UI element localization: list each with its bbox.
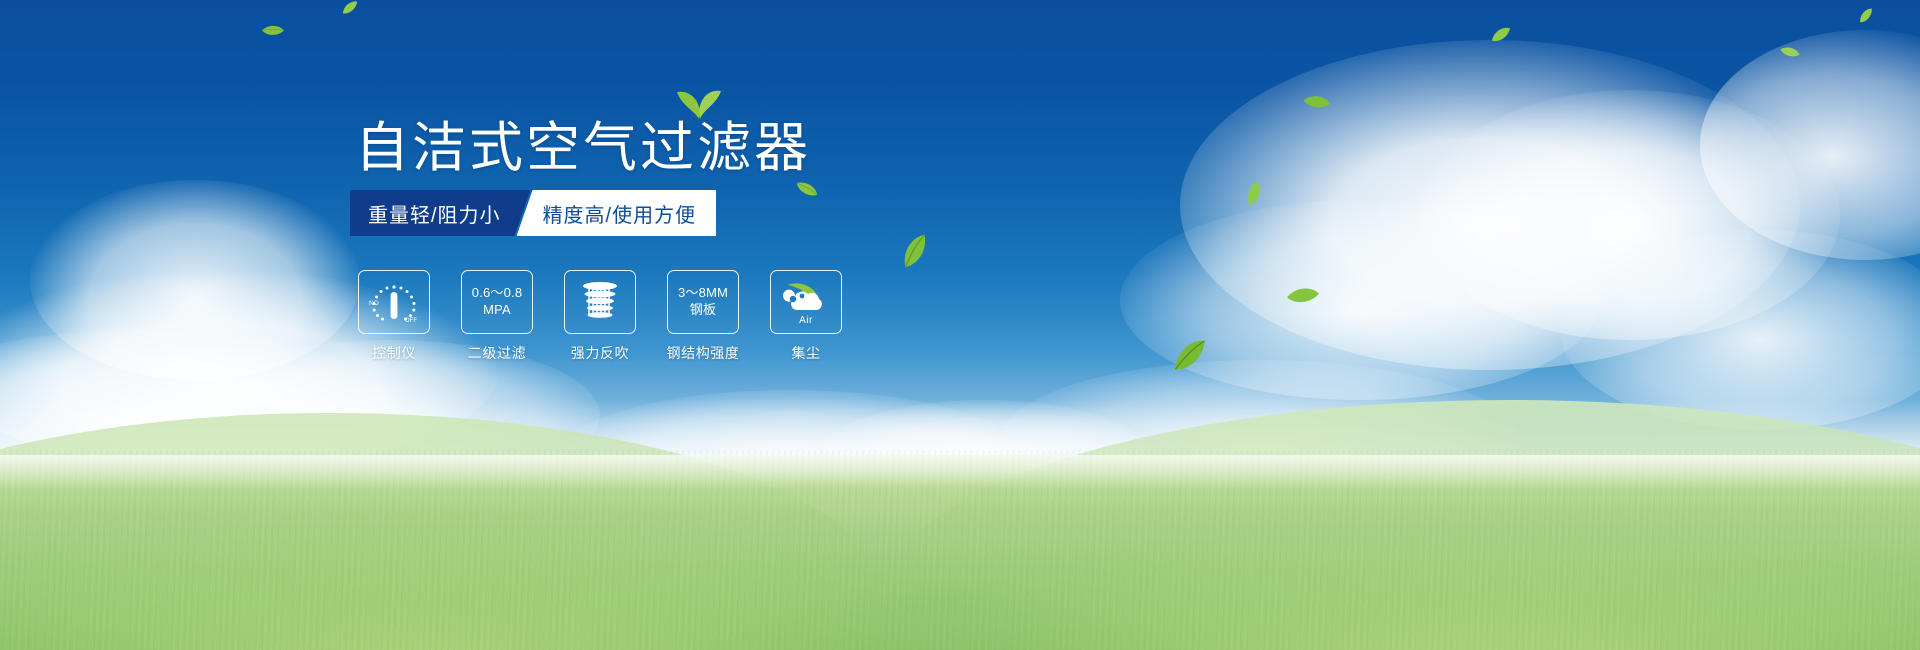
hero-content: 自洁式空气过滤器 重量轻/阻力小 精度高/使用方便 [0,0,1920,650]
feature-label: 强力反吹 [571,343,629,363]
feature-label: 二级过滤 [468,343,526,363]
feature-icon-box: Air [770,270,842,334]
steel-thickness-text: 3～8MM [678,285,728,302]
feature-item-control[interactable]: NO OFF 控制仪 [358,270,430,363]
air-label: Air [771,315,841,326]
feature-icon-box: 0.6～0.8 MPA [461,270,533,334]
feature-icon-box: 3～8MM 钢板 [667,270,739,334]
pressure-range-text: 0.6～0.8 [472,285,523,302]
feature-icon-box: NO OFF [358,270,430,334]
feature-item-steel[interactable]: 3～8MM 钢板 钢结构强度 [667,270,739,363]
svg-text:OFF: OFF [405,318,417,324]
feature-list: NO OFF 控制仪 0.6～0.8 MPA 二级过滤 [358,270,842,363]
filter-stack-icon [576,278,624,326]
pressure-unit-text: MPA [483,302,511,319]
feature-label: 钢结构强度 [667,343,740,363]
hero-banner: 自洁式空气过滤器 重量轻/阻力小 精度高/使用方便 [0,0,1920,650]
gauge-icon: NO OFF [366,278,422,326]
feature-icon-box [564,270,636,334]
tagline-pill-2: 精度高/使用方便 [517,190,717,236]
page-title: 自洁式空气过滤器 [355,118,811,178]
steel-plate-text: 钢板 [690,302,716,319]
feature-item-pressure[interactable]: 0.6～0.8 MPA 二级过滤 [461,270,533,363]
tagline-pill-1: 重量轻/阻力小 [350,190,531,236]
dust-cloud-icon [780,279,832,319]
tagline-pills: 重量轻/阻力小 精度高/使用方便 [350,190,716,236]
feature-label: 控制仪 [372,343,416,363]
feature-item-backblow[interactable]: 强力反吹 [564,270,636,363]
feature-item-dust[interactable]: Air 集尘 [770,270,842,363]
svg-text:NO: NO [369,300,379,307]
feature-label: 集尘 [791,343,820,363]
